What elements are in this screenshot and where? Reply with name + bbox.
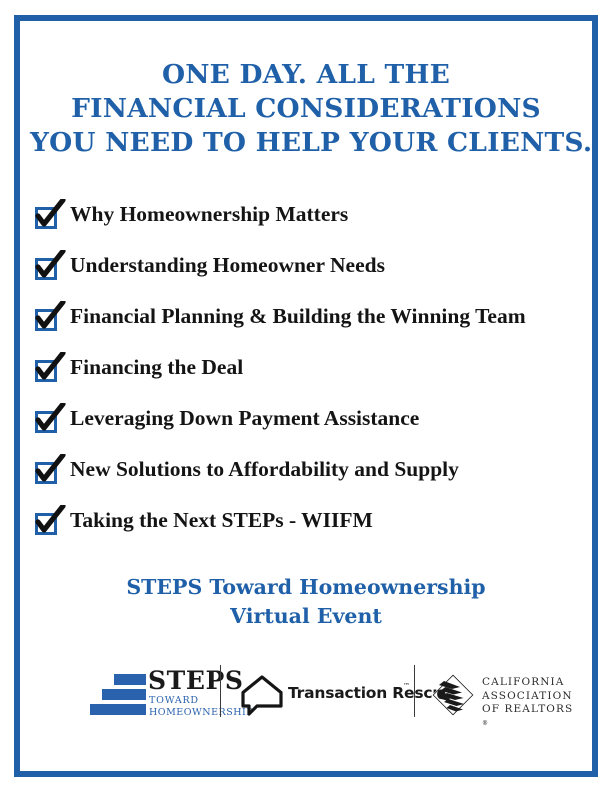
checkbox-checked-icon[interactable]	[33, 201, 63, 231]
checkbox-checked-icon[interactable]	[33, 507, 63, 537]
house-speech-bubble-icon	[240, 673, 284, 717]
car-line-3-text: OF REALTORS	[482, 703, 573, 717]
logo-divider	[414, 665, 415, 717]
list-item[interactable]: Understanding Homeowner Needs	[33, 248, 593, 299]
steps-tagline-line-2: HOMEOWNERSHIP	[149, 707, 253, 719]
logo-steps-toward-homeownership: STEPS TOWARD HOMEOWNERSHIP	[90, 667, 250, 722]
list-item[interactable]: Leveraging Down Payment Assistance	[33, 401, 593, 452]
list-item[interactable]: Financial Planning & Building the Winnin…	[33, 299, 593, 350]
car-line-1: CALIFORNIA	[482, 676, 573, 690]
car-emblem-icon	[430, 672, 476, 718]
checkbox-checked-icon[interactable]	[33, 354, 63, 384]
list-item[interactable]: Financing the Deal	[33, 350, 593, 401]
flyer-page: ONE DAY. ALL THE FINANCIAL CONSIDERATION…	[0, 0, 612, 792]
logo-transaction-rescue: Transaction Rescue ™	[240, 671, 410, 719]
headline-line-3: YOU NEED TO HELP YOUR CLIENTS.	[30, 126, 582, 160]
list-item[interactable]: Why Homeownership Matters	[33, 197, 593, 248]
steps-tagline-line-1: TOWARD	[149, 695, 199, 707]
list-item-label: New Solutions to Affordability and Suppl…	[70, 452, 459, 486]
trademark-symbol: ™	[403, 682, 410, 690]
checkbox-checked-icon[interactable]	[33, 303, 63, 333]
list-item[interactable]: Taking the Next STEPs - WIIFM	[33, 503, 593, 554]
list-item-label: Financing the Deal	[70, 350, 243, 384]
list-item-label: Understanding Homeowner Needs	[70, 248, 385, 282]
transaction-rescue-wordmark: Transaction Rescue	[288, 684, 454, 702]
logo-strip: STEPS TOWARD HOMEOWNERSHIP Transaction R…	[40, 655, 572, 730]
steps-wordmark: STEPS	[148, 668, 244, 694]
checkbox-checked-icon[interactable]	[33, 456, 63, 486]
logo-california-association-of-realtors: CALIFORNIA ASSOCIATION OF REALTORS®	[430, 669, 580, 721]
car-line-2: ASSOCIATION	[482, 690, 573, 704]
logo-divider	[220, 665, 221, 717]
event-subtitle: STEPS Toward Homeownership Virtual Event	[30, 573, 582, 631]
car-wordmark: CALIFORNIA ASSOCIATION OF REALTORS®	[482, 676, 573, 730]
event-subtitle-line-1: STEPS Toward Homeownership	[30, 573, 582, 602]
car-line-3: OF REALTORS®	[482, 703, 573, 730]
page-title: ONE DAY. ALL THE FINANCIAL CONSIDERATION…	[30, 58, 582, 160]
list-item[interactable]: New Solutions to Affordability and Suppl…	[33, 452, 593, 503]
list-item-label: Why Homeownership Matters	[70, 197, 348, 231]
list-item-label: Leveraging Down Payment Assistance	[70, 401, 419, 435]
checkbox-checked-icon[interactable]	[33, 405, 63, 435]
session-topics-checklist: Why Homeownership Matters Understanding …	[33, 197, 593, 554]
registered-symbol: ®	[482, 717, 573, 731]
checkbox-checked-icon[interactable]	[33, 252, 63, 282]
list-item-label: Taking the Next STEPs - WIIFM	[70, 503, 373, 537]
stairs-bars-icon	[90, 674, 146, 718]
headline-line-2: FINANCIAL CONSIDERATIONS	[30, 92, 582, 126]
headline-line-1: ONE DAY. ALL THE	[30, 58, 582, 92]
event-subtitle-line-2: Virtual Event	[30, 602, 582, 631]
list-item-label: Financial Planning & Building the Winnin…	[70, 299, 526, 333]
